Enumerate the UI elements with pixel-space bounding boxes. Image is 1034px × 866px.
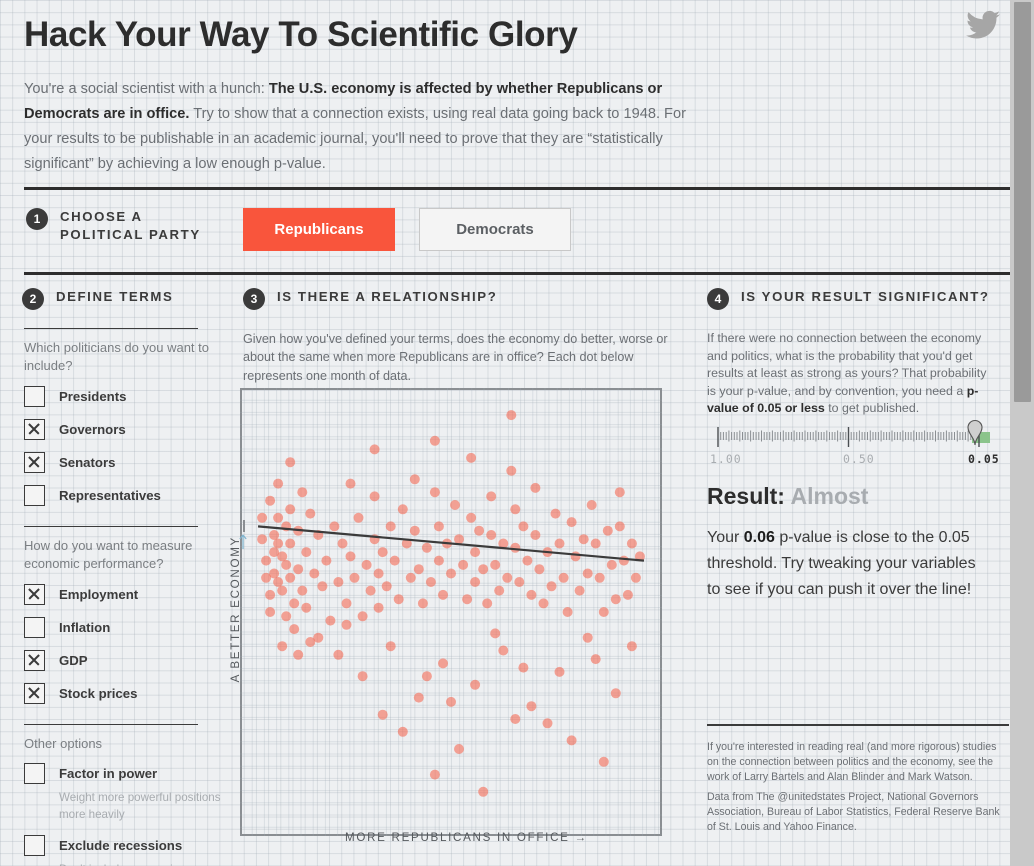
label-representatives: Representatives xyxy=(59,488,161,503)
label-exclude-recessions: Exclude recessions xyxy=(59,838,182,853)
checkbox-row-employment[interactable]: Employment xyxy=(24,584,222,605)
republicans-button[interactable]: Republicans xyxy=(243,208,395,251)
step-3-title: IS THERE A RELATIONSHIP? xyxy=(277,288,497,306)
other-options-label: Other options xyxy=(24,735,222,753)
result-pvalue: 0.06 xyxy=(744,529,775,546)
label-inflation: Inflation xyxy=(59,620,110,635)
step-4-title: IS YOUR RESULT SIGNIFICANT? xyxy=(741,288,990,306)
step-1-badge: 1 xyxy=(26,208,48,230)
checkbox-senators[interactable] xyxy=(24,452,45,473)
result-value: Almost xyxy=(791,483,869,509)
note-factor-in-power: Weight more powerful positions more heav… xyxy=(59,790,222,823)
checkbox-row-governors[interactable]: Governors xyxy=(24,419,222,440)
define-terms-panel: Which politicians do you want to include… xyxy=(24,328,222,866)
party-button-group: Republicans Democrats xyxy=(243,208,571,251)
economic-measure-question: How do you want to measure economic perf… xyxy=(24,537,222,574)
checkbox-row-stock-prices[interactable]: Stock prices xyxy=(24,683,222,704)
checkbox-exclude-recessions[interactable] xyxy=(24,835,45,856)
y-axis-label: A BETTER ECONOMY xyxy=(229,536,242,682)
checkbox-row-senators[interactable]: Senators xyxy=(24,452,222,473)
label-gdp: GDP xyxy=(59,653,88,668)
step-3-heading: 3 IS THERE A RELATIONSHIP? xyxy=(243,288,497,310)
checkbox-stock-prices[interactable] xyxy=(24,683,45,704)
scatter-points-layer xyxy=(240,388,662,836)
result-body-text: Your 0.06 p-value is close to the 0.05 t… xyxy=(707,525,989,603)
scatter-plot xyxy=(240,388,662,836)
checkbox-row-factor-in-power[interactable]: Factor in power xyxy=(24,763,222,784)
checkbox-row-representatives[interactable]: Representatives xyxy=(24,485,222,506)
intro-text-1: You're a social scientist with a hunch: xyxy=(24,81,269,97)
checkbox-governors[interactable] xyxy=(24,419,45,440)
checkbox-employment[interactable] xyxy=(24,584,45,605)
step-4-heading: 4 IS YOUR RESULT SIGNIFICANT? xyxy=(707,288,990,310)
divider-top xyxy=(24,187,1010,190)
result-text-1: Your xyxy=(707,529,744,546)
step-1-title: CHOOSE APOLITICAL PARTY xyxy=(60,208,201,244)
relationship-description: Given how you've defined your terms, doe… xyxy=(243,330,668,385)
checkbox-row-gdp[interactable]: GDP xyxy=(24,650,222,671)
step-3-badge: 3 xyxy=(243,288,265,310)
checkbox-gdp[interactable] xyxy=(24,650,45,671)
page-header: Hack Your Way To Scientific Glory You're… xyxy=(24,16,994,177)
twitter-bird-icon[interactable] xyxy=(966,10,1000,40)
step-2-badge: 2 xyxy=(22,288,44,310)
ruler-label-group: 1.00 0.50 0.05 xyxy=(707,452,997,468)
checkbox-inflation[interactable] xyxy=(24,617,45,638)
scrollbar-track[interactable] xyxy=(1010,0,1034,866)
checkbox-presidents[interactable] xyxy=(24,386,45,407)
step-2-title: DEFINE TERMS xyxy=(56,288,173,306)
map-pin-marker-icon[interactable] xyxy=(965,418,985,446)
step-2-heading: 2 DEFINE TERMS xyxy=(22,288,173,310)
checkbox-row-exclude-recessions[interactable]: Exclude recessions xyxy=(24,835,222,856)
checkbox-row-inflation[interactable]: Inflation xyxy=(24,617,222,638)
divider-group-1 xyxy=(24,328,198,329)
step-4-badge: 4 xyxy=(707,288,729,310)
checkbox-factor-in-power[interactable] xyxy=(24,763,45,784)
page-content: Hack Your Way To Scientific Glory You're… xyxy=(0,0,1010,866)
checkbox-representatives[interactable] xyxy=(24,485,45,506)
y-axis-tick xyxy=(243,520,245,532)
step-1-heading: 1 CHOOSE APOLITICAL PARTY xyxy=(26,208,201,244)
label-factor-in-power: Factor in power xyxy=(59,766,157,781)
footer-data-sources: Data from The @unitedstates Project, Nat… xyxy=(707,790,1007,835)
page-title: Hack Your Way To Scientific Glory xyxy=(24,16,994,55)
label-senators: Senators xyxy=(59,455,115,470)
sig-desc-2: to get published. xyxy=(825,401,919,415)
label-employment: Employment xyxy=(59,587,138,602)
label-governors: Governors xyxy=(59,422,126,437)
ruler-label-1: 1.00 xyxy=(710,452,742,466)
democrats-button[interactable]: Democrats xyxy=(419,208,571,251)
divider-steps xyxy=(24,272,1010,275)
label-stock-prices: Stock prices xyxy=(59,686,137,701)
ruler-label-3: 0.05 xyxy=(968,452,1000,466)
x-axis-label: MORE REPUBLICANS IN OFFICE → xyxy=(345,831,588,844)
intro-paragraph: You're a social scientist with a hunch: … xyxy=(24,77,714,177)
result-heading: Result: Almost xyxy=(707,483,868,510)
pvalue-ruler[interactable] xyxy=(710,425,995,449)
scrollbar-thumb[interactable] xyxy=(1014,2,1031,402)
divider-footer xyxy=(707,724,1009,726)
result-label: Result: xyxy=(707,483,785,509)
label-presidents: Presidents xyxy=(59,389,126,404)
divider-group-2 xyxy=(24,526,198,527)
sig-desc-1: If there were no connection between the … xyxy=(707,331,986,398)
note-exclude-recessions: Don't include economic recessions xyxy=(59,862,222,866)
politicians-question: Which politicians do you want to include… xyxy=(24,339,222,376)
footer-studies-note: If you're interested in reading real (an… xyxy=(707,740,1007,785)
divider-group-3 xyxy=(24,724,198,725)
significance-description: If there were no connection between the … xyxy=(707,330,995,418)
checkbox-row-presidents[interactable]: Presidents xyxy=(24,386,222,407)
ruler-label-2: 0.50 xyxy=(843,452,875,466)
